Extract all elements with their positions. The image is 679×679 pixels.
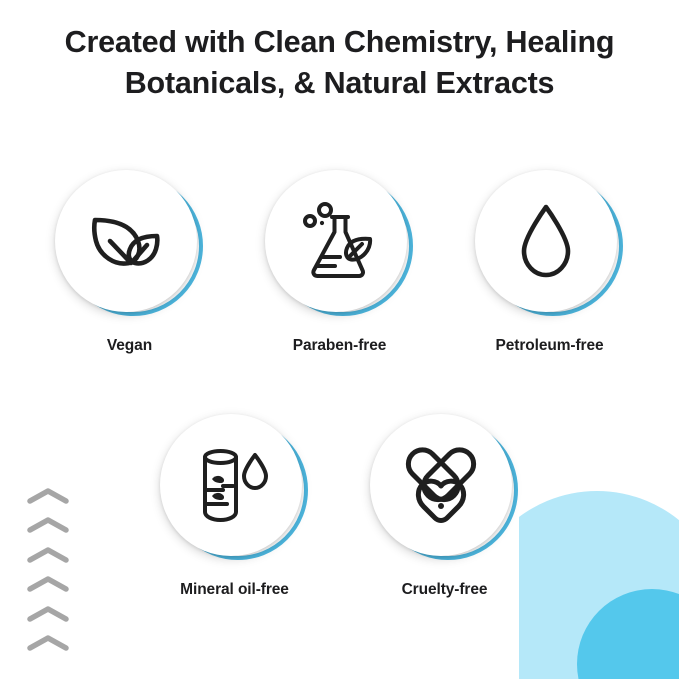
badge-circle: [475, 170, 625, 320]
badge-label: Mineral oil-free: [180, 581, 289, 599]
dark-blue-circle: [577, 589, 679, 679]
badge-row-top: Vegan: [0, 170, 679, 355]
badge-row-bottom: Mineral oil-free: [0, 414, 679, 599]
badge-label: Cruelty-free: [402, 581, 488, 599]
chevron-up-icon: [26, 634, 70, 652]
chevron-up-icon: [26, 516, 70, 534]
badge-vegan[interactable]: Vegan: [46, 170, 214, 355]
chevron-up-icon: [26, 487, 70, 505]
badge-petroleum-free[interactable]: Petroleum-free: [466, 170, 634, 355]
badge-circle: [265, 170, 415, 320]
leaves-icon: [55, 170, 197, 312]
badge-cruelty-free[interactable]: Cruelty-free: [361, 414, 529, 599]
test-tube-droplet-icon: [160, 414, 302, 556]
page-title: Created with Clean Chemistry, Healing Bo…: [0, 22, 679, 104]
promo-graphic: Created with Clean Chemistry, Healing Bo…: [0, 0, 679, 679]
droplet-icon: [475, 170, 617, 312]
chevron-up-icon: [26, 546, 70, 564]
chevron-up-icon: [26, 605, 70, 623]
badge-circle: [55, 170, 205, 320]
badge-circle: [370, 414, 520, 564]
bunny-icon: [370, 414, 512, 556]
badge-grid: Vegan: [0, 170, 679, 599]
flask-leaf-icon: [265, 170, 407, 312]
badge-label: Vegan: [107, 337, 152, 355]
badge-mineral-oil-free[interactable]: Mineral oil-free: [151, 414, 319, 599]
badge-paraben-free[interactable]: Paraben-free: [256, 170, 424, 355]
badge-label: Petroleum-free: [496, 337, 604, 355]
chevron-stack: [22, 487, 74, 652]
badge-label: Paraben-free: [293, 337, 387, 355]
chevron-up-icon: [26, 575, 70, 593]
badge-circle: [160, 414, 310, 564]
